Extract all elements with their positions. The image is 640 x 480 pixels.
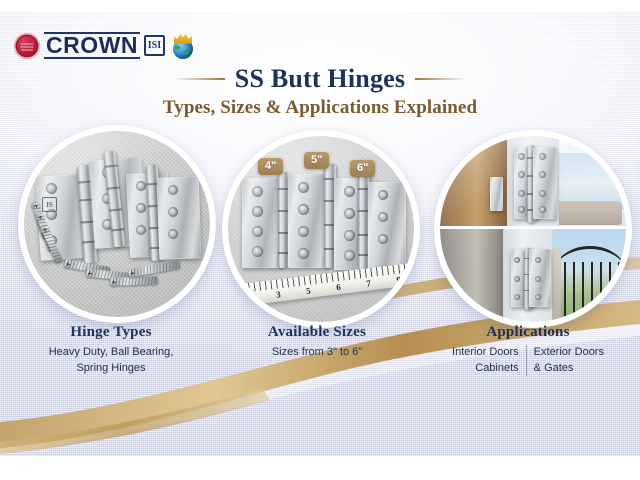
letterbox-top (0, 0, 640, 12)
photo-circle-available-sizes: 135679 4" 5" 6" (222, 130, 420, 328)
size-badge-4in: 4" (258, 158, 283, 175)
panel-available-sizes-text: Available Sizes Sizes from 3" to 6" (212, 324, 422, 361)
applications-interior-line2: Cabinets (452, 361, 519, 377)
panel-body-available-sizes: Sizes from 3" to 6" (212, 345, 422, 361)
title-rule-left (173, 78, 225, 80)
photo-circle-hinge-types: IS (18, 125, 216, 323)
crown-globe-icon (171, 33, 195, 59)
applications-interior-line1: Interior Doors (452, 345, 519, 361)
panel-heading-available-sizes: Available Sizes (212, 324, 422, 341)
isi-square-icon: ISI (144, 35, 165, 56)
applications-exterior-line2: & Gates (534, 361, 604, 377)
page-subtitle: Types, Sizes & Applications Explained (0, 97, 640, 119)
size-badge-6in: 6" (350, 160, 375, 177)
page-title: SS Butt Hinges (235, 64, 405, 94)
brand-logo: CROWN ISI (14, 32, 195, 59)
red-seal-icon (14, 33, 40, 59)
infographic-canvas: CROWN ISI SS Butt Hinges Types, Sizes & … (0, 0, 640, 480)
applications-exterior-line1: Exterior Doors (534, 345, 604, 361)
panel-heading-hinge-types: Hinge Types (6, 324, 216, 341)
brand-name: CROWN (44, 32, 140, 59)
title-rule-right (415, 78, 467, 80)
interior-door-scene (440, 136, 626, 229)
isi-stamp-icon: IS (42, 197, 57, 212)
panel-applications-text: Applications Interior Doors Cabinets Ext… (420, 324, 636, 376)
panel-heading-applications: Applications (420, 324, 636, 341)
photo-circle-applications (434, 130, 632, 328)
size-badge-5in: 5" (304, 152, 329, 169)
panel-body-hinge-types-line1: Heavy Duty, Ball Bearing, (6, 345, 216, 361)
applications-exterior-group: Exterior Doors & Gates (527, 345, 611, 376)
header-block: SS Butt Hinges Types, Sizes & Applicatio… (0, 64, 640, 119)
letterbox-bottom (0, 456, 640, 480)
panel-hinge-types-text: Hinge Types Heavy Duty, Ball Bearing, Sp… (6, 324, 216, 376)
applications-interior-group: Interior Doors Cabinets (445, 345, 526, 376)
panel-body-hinge-types-line2: Spring Hinges (6, 361, 216, 377)
artwork-area: CROWN ISI SS Butt Hinges Types, Sizes & … (0, 12, 640, 456)
exterior-gate-scene (440, 226, 626, 322)
